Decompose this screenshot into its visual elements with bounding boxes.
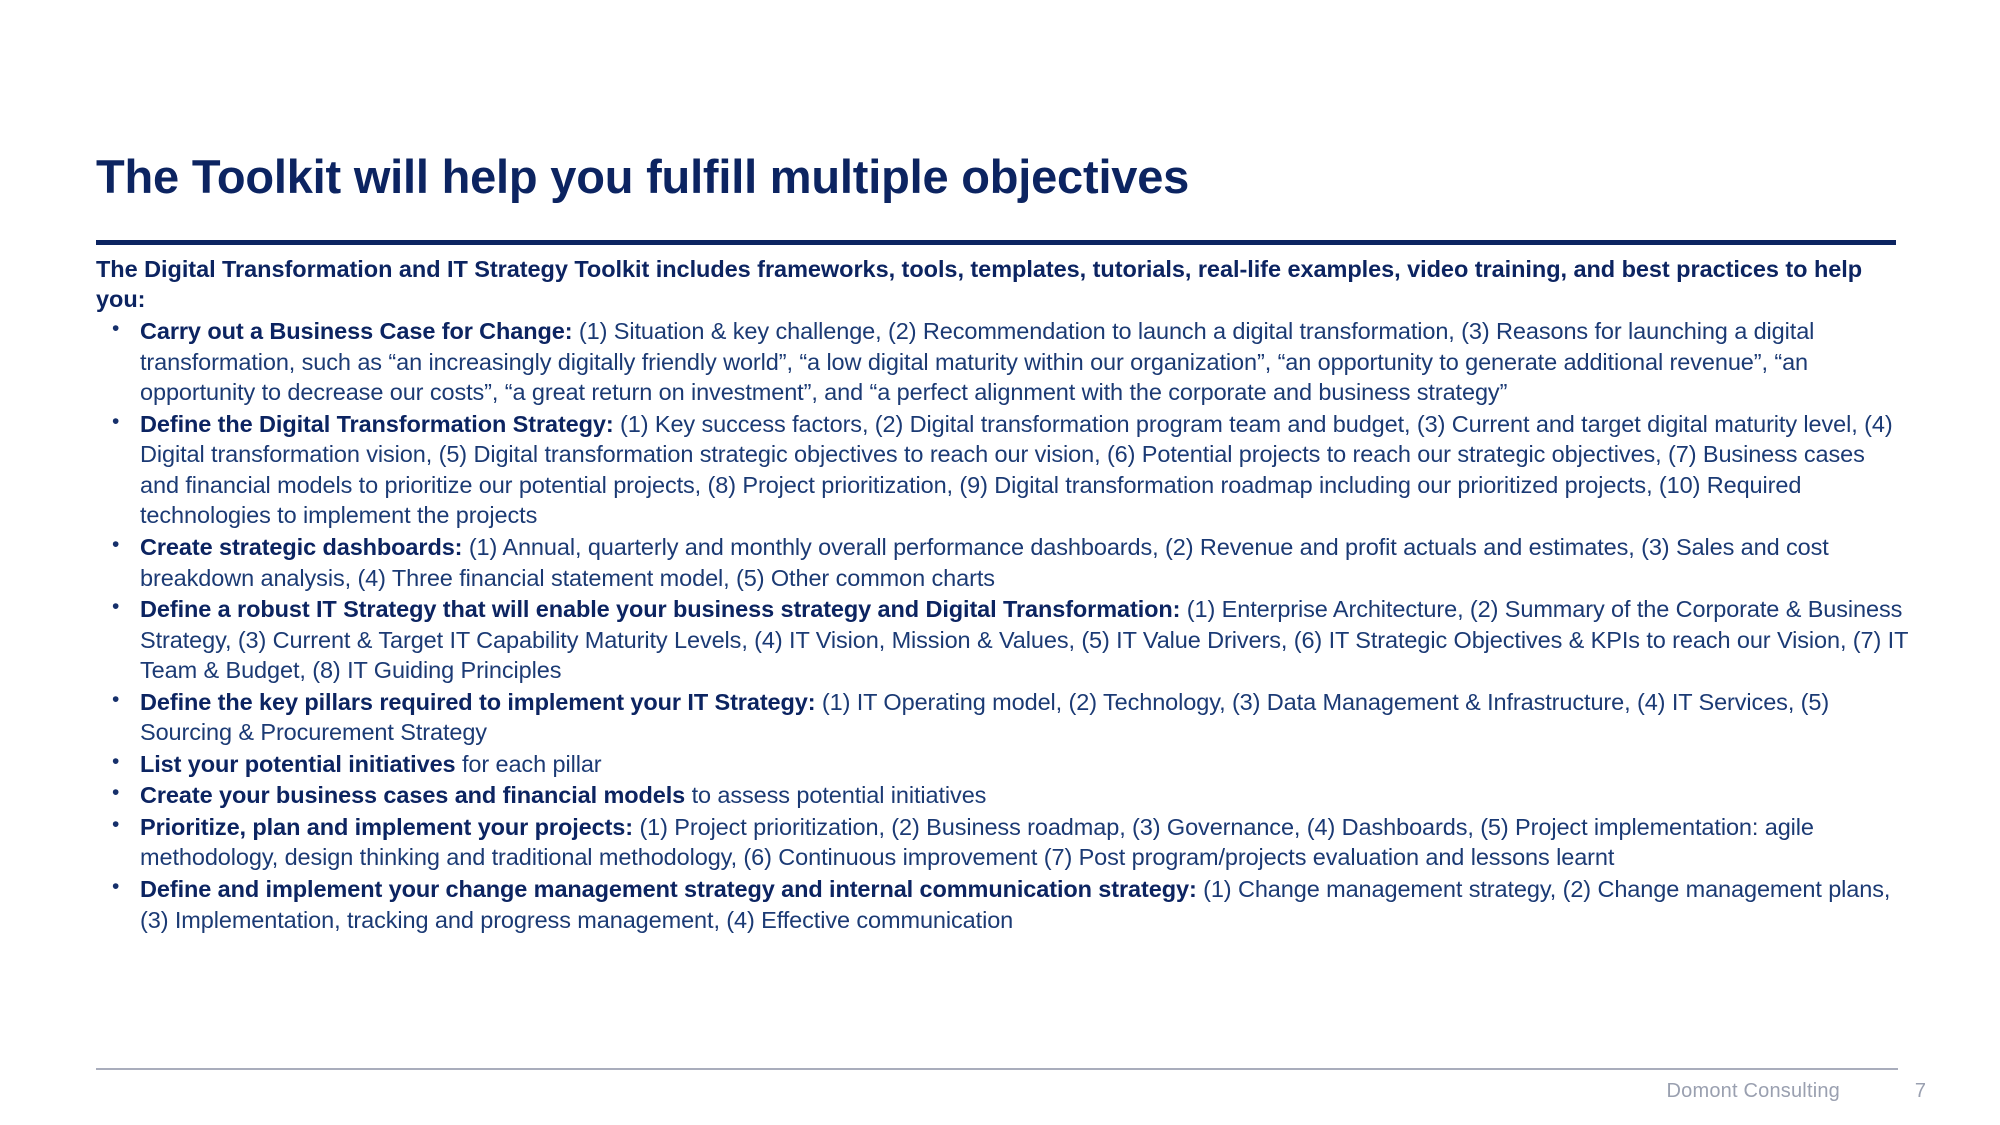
body-content: The Digital Transformation and IT Strate… bbox=[96, 254, 1908, 936]
footer-divider bbox=[96, 1068, 1898, 1070]
list-item-label: Create your business cases and financial… bbox=[140, 782, 685, 808]
objectives-list: Carry out a Business Case for Change: (1… bbox=[96, 316, 1908, 935]
list-item-label: Prioritize, plan and implement your proj… bbox=[140, 814, 633, 840]
footer-page-number: 7 bbox=[1915, 1080, 1926, 1103]
list-item: Carry out a Business Case for Change: (1… bbox=[96, 316, 1908, 408]
page-title: The Toolkit will help you fulfill multip… bbox=[96, 151, 1896, 203]
lead-in-paragraph: The Digital Transformation and IT Strate… bbox=[96, 254, 1908, 314]
list-item: Prioritize, plan and implement your proj… bbox=[96, 812, 1908, 873]
list-item: Define the Digital Transformation Strate… bbox=[96, 409, 1908, 531]
list-item-detail: to assess potential initiatives bbox=[685, 782, 986, 808]
list-item: Create strategic dashboards: (1) Annual,… bbox=[96, 532, 1908, 593]
list-item-label: Define the Digital Transformation Strate… bbox=[140, 411, 614, 437]
footer-brand: Domont Consulting bbox=[1667, 1080, 1841, 1103]
list-item-label: Carry out a Business Case for Change: bbox=[140, 318, 572, 344]
list-item-label: Define the key pillars required to imple… bbox=[140, 689, 815, 715]
list-item-label: Define and implement your change managem… bbox=[140, 876, 1197, 902]
list-item: Define a robust IT Strategy that will en… bbox=[96, 594, 1908, 686]
title-divider bbox=[96, 240, 1896, 245]
list-item-detail: for each pillar bbox=[456, 751, 602, 777]
list-item-label: Define a robust IT Strategy that will en… bbox=[140, 596, 1180, 622]
list-item: Define the key pillars required to imple… bbox=[96, 687, 1908, 748]
list-item: Define and implement your change managem… bbox=[96, 874, 1908, 935]
slide: The Toolkit will help you fulfill multip… bbox=[0, 0, 2000, 1125]
list-item: List your potential initiatives for each… bbox=[96, 749, 1908, 780]
list-item-label: Create strategic dashboards: bbox=[140, 534, 462, 560]
list-item: Create your business cases and financial… bbox=[96, 780, 1908, 811]
list-item-label: List your potential initiatives bbox=[140, 751, 456, 777]
